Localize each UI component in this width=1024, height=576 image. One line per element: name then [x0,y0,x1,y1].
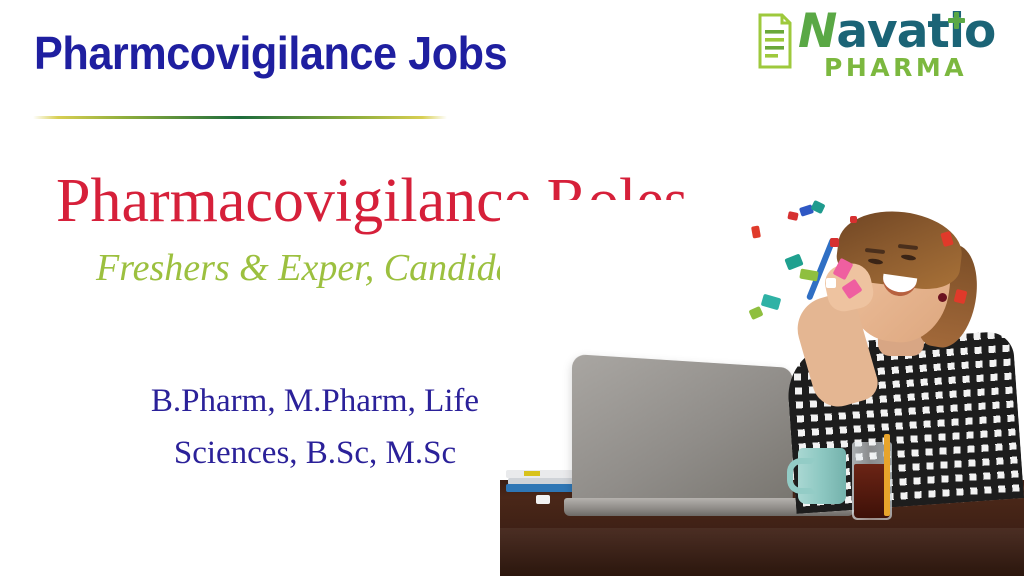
mug-handle [787,458,817,494]
logo-wordmark: Navatio PHARMA [798,6,1006,86]
poster-canvas: Pharmcovigilance Jobs Navatio PHARMA [0,0,1024,576]
qualifications-line-2: Sciences, B.Sc, M.Sc [60,427,570,479]
logo-brand-rest: avatio [836,4,995,59]
document-icon [756,12,794,70]
brand-logo: Navatio PHARMA [752,6,1008,90]
straw [884,434,890,516]
laptop-screen [572,354,793,504]
book-bookmark [524,471,540,476]
desk-reflection [500,528,1024,576]
logo-subbrand: PHARMA [824,54,967,82]
eraser [536,495,550,504]
logo-brand-initial: N [798,4,836,59]
medical-cross-icon [948,12,965,29]
hero-photo [500,200,1024,576]
earring [938,293,947,302]
teal-mug [798,448,846,504]
qualifications-block: B.Pharm, M.Pharm, Life Sciences, B.Sc, M… [60,375,570,479]
page-title: Pharmcovigilance Jobs [34,26,507,80]
logo-brand-name: Navatio [798,4,995,60]
title-divider [33,116,447,119]
qualifications-line-1: B.Pharm, M.Pharm, Life [60,375,570,427]
main-subheading: Freshers & Exper, Candidates [96,245,557,291]
